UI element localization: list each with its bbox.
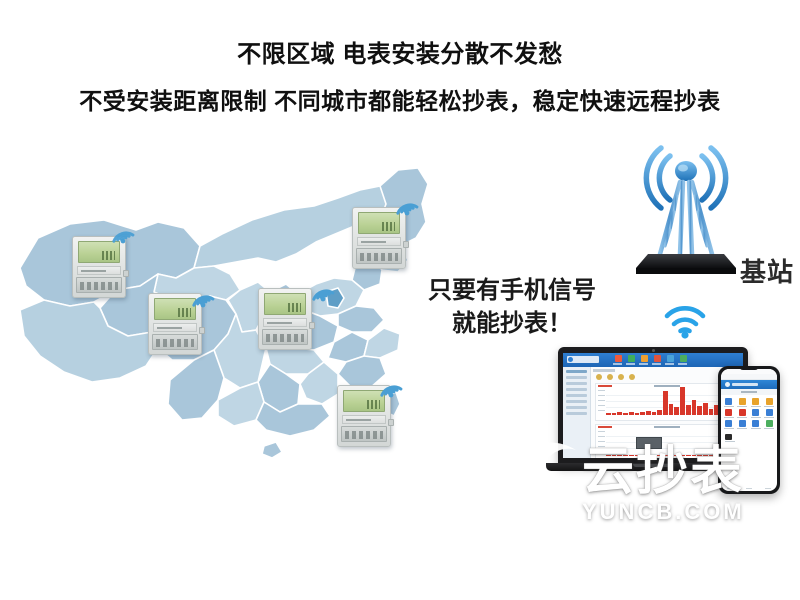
app-icon[interactable] bbox=[766, 420, 773, 427]
laptop-camera bbox=[652, 349, 655, 352]
app-icon-cell[interactable] bbox=[750, 398, 762, 407]
chart-bar bbox=[640, 455, 645, 456]
chart-bar bbox=[663, 455, 668, 456]
chart-bar bbox=[669, 455, 674, 456]
app-icon-cell[interactable] bbox=[764, 409, 776, 418]
app-icon[interactable] bbox=[739, 420, 746, 427]
toolbar-button[interactable] bbox=[596, 374, 602, 380]
app-section-title bbox=[721, 389, 777, 395]
sidebar-item[interactable] bbox=[566, 394, 587, 397]
app-icon-label bbox=[764, 428, 774, 429]
meter-seal bbox=[309, 322, 315, 329]
dashboard-nav-icons[interactable] bbox=[615, 355, 687, 362]
chart-bar bbox=[697, 406, 702, 415]
base-station-label: 基站 bbox=[740, 252, 794, 289]
chart-bar bbox=[617, 412, 622, 415]
chart-bars bbox=[606, 387, 736, 415]
meter-nameplate bbox=[77, 266, 121, 275]
chart-bar bbox=[623, 413, 628, 415]
wifi-arc-icon bbox=[110, 218, 138, 244]
caption-block: 只要有手机信号 就能抄表！ bbox=[402, 274, 622, 340]
chart-bar bbox=[606, 413, 611, 415]
app-icon-label bbox=[737, 417, 747, 418]
chart-bar bbox=[612, 413, 617, 415]
chart-bar bbox=[709, 455, 714, 456]
nav-icon-2[interactable] bbox=[628, 355, 635, 362]
chart-bar bbox=[703, 403, 708, 415]
app-icon[interactable] bbox=[725, 409, 732, 416]
meter-nameplate bbox=[153, 323, 197, 332]
wifi-arc-icon bbox=[378, 372, 406, 398]
app-header bbox=[721, 380, 777, 389]
chart-bar bbox=[686, 405, 691, 415]
meter-seal bbox=[403, 241, 409, 248]
sidebar-item[interactable] bbox=[566, 370, 587, 373]
dashboard-app bbox=[563, 353, 743, 458]
chart-bar bbox=[692, 455, 697, 456]
sidebar-item[interactable] bbox=[566, 382, 587, 385]
app-icon-label bbox=[724, 428, 734, 429]
dashboard-nav-labels bbox=[613, 363, 687, 365]
dashboard-topbar bbox=[563, 353, 743, 367]
chart-bars bbox=[606, 428, 736, 456]
app-icon-cell[interactable] bbox=[750, 409, 762, 418]
app-icon[interactable] bbox=[739, 398, 746, 405]
app-icon[interactable] bbox=[739, 409, 746, 416]
signal-waves-right bbox=[702, 148, 726, 208]
app-icon-cell[interactable] bbox=[737, 409, 749, 418]
app-extra-item[interactable] bbox=[721, 432, 777, 444]
meter-nameplate bbox=[263, 318, 307, 327]
chart-bar bbox=[680, 387, 685, 415]
watermark-en: YUNCB.COM bbox=[582, 500, 797, 524]
chart-bar bbox=[612, 455, 617, 456]
meter-terminal-block bbox=[76, 277, 122, 293]
toolbar-button[interactable] bbox=[629, 374, 635, 380]
app-icon-label bbox=[751, 417, 761, 418]
meter-terminal-block bbox=[262, 329, 308, 345]
app-icon-label bbox=[751, 428, 761, 429]
nav-icon-3[interactable] bbox=[641, 355, 648, 362]
app-icon[interactable] bbox=[752, 398, 759, 405]
nav-icon-4[interactable] bbox=[654, 355, 661, 362]
chart-bar bbox=[652, 412, 657, 415]
meter-terminal-block bbox=[152, 334, 198, 350]
sidebar-item[interactable] bbox=[566, 388, 587, 391]
sidebar-item[interactable] bbox=[566, 406, 587, 409]
meter-seal bbox=[388, 419, 394, 426]
sidebar-item[interactable] bbox=[566, 412, 587, 415]
meter-seal bbox=[199, 327, 205, 334]
breadcrumb bbox=[593, 369, 615, 372]
meter-nameplate bbox=[342, 415, 386, 424]
app-icon-label bbox=[724, 417, 734, 418]
chart-bar bbox=[697, 455, 702, 456]
meter-terminal-block bbox=[356, 248, 402, 264]
base-station-svg bbox=[632, 138, 740, 283]
app-icon-cell[interactable] bbox=[723, 398, 735, 407]
app-icon-label bbox=[764, 406, 774, 407]
meter-nameplate bbox=[357, 237, 401, 246]
dashboard-logo bbox=[567, 356, 599, 363]
app-icon-cell[interactable] bbox=[750, 420, 762, 429]
chart-bar bbox=[669, 404, 674, 415]
antenna-head bbox=[675, 161, 697, 181]
chart-bar bbox=[646, 411, 651, 415]
app-icon-cell[interactable] bbox=[723, 409, 735, 418]
base-station-tower bbox=[632, 138, 740, 283]
nav-icon-5[interactable] bbox=[667, 355, 674, 362]
app-icon[interactable] bbox=[752, 409, 759, 416]
wifi-arc-icon bbox=[394, 190, 422, 216]
app-icon-cell[interactable] bbox=[764, 420, 776, 429]
chart-bar bbox=[640, 412, 645, 415]
meter-device bbox=[258, 288, 312, 350]
nav-home[interactable] bbox=[746, 488, 752, 489]
app-icon-label bbox=[737, 428, 747, 429]
app-icon-label bbox=[764, 417, 774, 418]
tower-frame bbox=[660, 182, 712, 254]
signal-waves-left bbox=[646, 148, 670, 208]
app-icon[interactable] bbox=[766, 409, 773, 416]
caption-line-2: 就能抄表！ bbox=[402, 307, 622, 340]
meter-lcd-display bbox=[264, 293, 306, 315]
app-item-label bbox=[725, 441, 735, 442]
wifi-arc-icon bbox=[310, 276, 338, 302]
app-icon-label bbox=[724, 406, 734, 407]
chart-bar bbox=[629, 412, 634, 415]
phone-nav-bar[interactable] bbox=[721, 488, 777, 489]
tower-platform bbox=[636, 254, 736, 268]
chart-y-axis bbox=[598, 431, 605, 456]
nav-recents[interactable] bbox=[765, 488, 771, 489]
chart-bar bbox=[629, 455, 634, 456]
dashboard-sidebar[interactable] bbox=[563, 367, 591, 458]
app-icon-cell[interactable] bbox=[737, 420, 749, 429]
chart-bar bbox=[674, 407, 679, 415]
phone-device bbox=[718, 366, 780, 494]
chart-bar bbox=[623, 455, 628, 456]
chart-bar bbox=[646, 455, 651, 456]
phone-screen bbox=[721, 369, 777, 491]
chart-bar bbox=[686, 455, 691, 456]
chart-y-axis bbox=[598, 390, 605, 415]
chart-bar bbox=[652, 455, 657, 456]
chart-bar bbox=[635, 413, 640, 415]
meter-lcd-display bbox=[78, 241, 120, 263]
mail-icon[interactable] bbox=[725, 434, 732, 440]
chart-tooltip bbox=[636, 437, 662, 449]
wifi-arc-icon bbox=[190, 282, 218, 308]
app-icon[interactable] bbox=[725, 398, 732, 405]
poster-canvas: 不限区域 电表安装分散不发愁 不受安装距离限制 不同城市都能轻松抄表，稳定快速远… bbox=[0, 0, 800, 600]
nav-icon-1[interactable] bbox=[615, 355, 622, 362]
phone-notch bbox=[739, 366, 759, 370]
meter-device bbox=[72, 236, 126, 298]
sidebar-item[interactable] bbox=[566, 400, 587, 403]
chart-bar bbox=[663, 391, 668, 415]
chart-bar bbox=[617, 455, 622, 456]
app-icon-grid[interactable] bbox=[721, 395, 777, 432]
chart-bar bbox=[606, 455, 611, 456]
nav-back[interactable] bbox=[727, 488, 733, 489]
app-icon-cell[interactable] bbox=[764, 398, 776, 407]
chart-bar bbox=[657, 410, 662, 415]
meter-device bbox=[352, 207, 406, 269]
meter-terminal-block bbox=[341, 426, 387, 442]
chart-bar bbox=[703, 455, 708, 456]
mobile-app bbox=[721, 369, 777, 444]
chart-bar bbox=[709, 409, 714, 415]
app-icon[interactable] bbox=[725, 420, 732, 427]
app-icon-label bbox=[737, 406, 747, 407]
caption-line-1: 只要有手机信号 bbox=[402, 274, 622, 307]
meter-seal bbox=[123, 270, 129, 277]
app-icon-cell[interactable] bbox=[723, 420, 735, 429]
nav-icon-6[interactable] bbox=[680, 355, 687, 362]
chart-bar bbox=[692, 400, 697, 415]
app-icon[interactable] bbox=[766, 398, 773, 405]
app-icon-cell[interactable] bbox=[737, 398, 749, 407]
app-icon-label bbox=[751, 406, 761, 407]
chart-bar bbox=[680, 455, 685, 456]
toolbar-button[interactable] bbox=[607, 374, 613, 380]
app-icon[interactable] bbox=[752, 420, 759, 427]
wifi-signal-icon bbox=[662, 300, 708, 340]
headline-secondary: 不受安装距离限制 不同城市都能轻松抄表，稳定快速远程抄表 bbox=[0, 86, 800, 116]
headline-primary: 不限区域 电表安装分散不发愁 bbox=[0, 40, 800, 70]
laptop-screen bbox=[563, 353, 743, 458]
chart-bar bbox=[674, 455, 679, 456]
chart-bar bbox=[657, 455, 662, 456]
sidebar-item[interactable] bbox=[566, 376, 587, 379]
toolbar-button[interactable] bbox=[618, 374, 624, 380]
chart-bar bbox=[635, 455, 640, 456]
